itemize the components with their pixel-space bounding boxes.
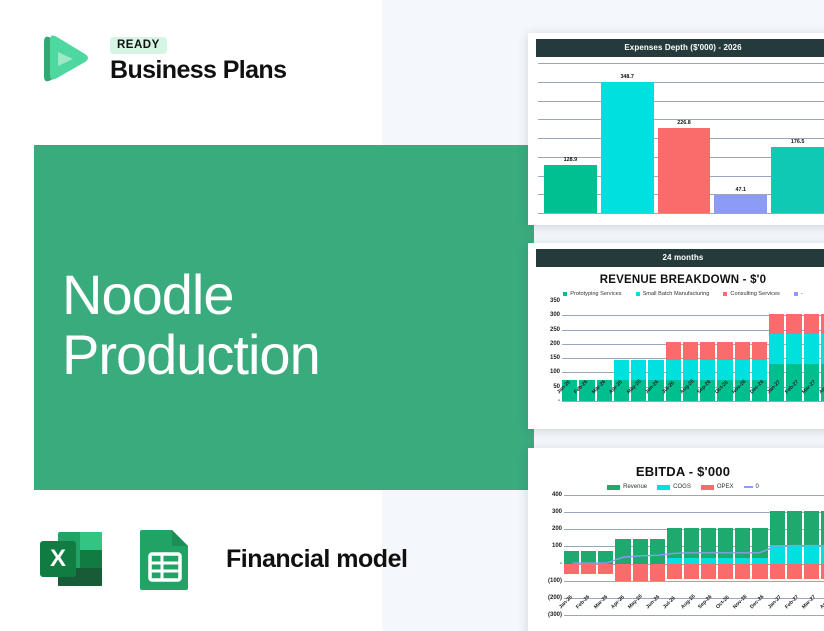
bar-segment-opex <box>787 564 802 579</box>
y-axis-tick: 250 <box>550 327 560 333</box>
bar[interactable]: 226.8 <box>658 128 711 213</box>
y-axis-tick: 400 <box>552 492 562 498</box>
bar-segment-revenue <box>770 511 785 544</box>
y-axis-tick: 100 <box>550 369 560 375</box>
positive-stack <box>735 528 750 563</box>
positive-stack <box>701 528 716 563</box>
bar-segment <box>769 334 784 364</box>
chart-card-revenue: 24 months REVENUE BREAKDOWN - $'0 Protot… <box>528 243 824 429</box>
y-axis-tick: - <box>558 398 560 404</box>
legend-label: Revenue <box>623 484 647 490</box>
bar-segment-revenue <box>667 528 682 557</box>
bar-segment <box>786 314 801 335</box>
legend-item[interactable]: 0 <box>744 484 759 490</box>
page-title: Noodle Production <box>62 265 482 386</box>
footer-row: X Financial model <box>32 520 407 598</box>
bar-segment-opex <box>598 564 613 574</box>
bar-segment-opex <box>752 564 767 579</box>
bar[interactable]: 348.7 <box>601 82 654 213</box>
bar-segment <box>631 360 646 380</box>
bar-segment-opex <box>718 564 733 579</box>
legend-swatch <box>701 485 714 490</box>
chart-card-expenses: Expenses Depth ($'000) - 2026 128.9348.7… <box>528 33 824 225</box>
svg-text:X: X <box>50 545 66 572</box>
bar-segment <box>700 360 715 380</box>
chart-legend-ebitda: RevenueCOGSOPEX0 <box>528 481 824 493</box>
chart-title-ebitda: EBITDA - $'000 <box>528 448 824 481</box>
bar-segment-opex <box>581 564 596 574</box>
bar-segment-opex <box>615 564 630 581</box>
bar[interactable]: 176.5 <box>771 147 824 213</box>
bar-segment <box>735 342 750 359</box>
positive-stack <box>752 528 767 563</box>
bar-segment <box>717 360 732 380</box>
bar-segment <box>666 342 681 359</box>
footer-label: Financial model <box>226 545 407 574</box>
legend-label: Small Batch Manufacturing <box>643 291 710 297</box>
bar-segment-revenue <box>701 528 716 557</box>
bar-group: 128.9348.7226.847.1176.5 <box>538 63 824 213</box>
y-axis-tick: 300 <box>552 509 562 515</box>
bar-segment-opex <box>770 564 785 579</box>
positive-stack <box>718 528 733 563</box>
chart-title-revenue: REVENUE BREAKDOWN - $'0 <box>528 267 824 288</box>
bar-segment-revenue <box>650 539 665 564</box>
legend-swatch <box>723 292 727 296</box>
bar[interactable]: 47.1 <box>714 195 767 213</box>
legend-label: OPEX <box>717 484 734 490</box>
bar-segment <box>683 342 698 359</box>
y-axis-labels: 35030025020015010050- <box>534 301 562 401</box>
bar-segment-opex <box>804 564 819 579</box>
bar-segment <box>804 334 819 364</box>
y-axis-tick: 300 <box>550 312 560 318</box>
bar-segment <box>804 314 819 335</box>
y-axis-labels: 400300200100-(100)(200)(300) <box>534 495 564 615</box>
plot-area-expenses: 128.9348.7226.847.1176.5 <box>538 63 824 213</box>
positive-stack <box>787 511 802 563</box>
bar-segment-cogs <box>770 545 785 564</box>
bar-segment-revenue <box>718 528 733 557</box>
chart-card-ebitda: EBITDA - $'000 RevenueCOGSOPEX0 40030020… <box>528 448 824 631</box>
positive-stack <box>770 511 785 563</box>
bar-segment <box>717 342 732 359</box>
legend-swatch <box>563 292 567 296</box>
positive-stack <box>598 551 613 564</box>
positive-stack <box>633 539 648 564</box>
bar-segment <box>700 342 715 359</box>
bar-segment-revenue <box>684 528 699 557</box>
y-axis-tick: 200 <box>550 341 560 347</box>
bar-segment <box>786 334 801 364</box>
x-axis-labels-ebitda: Jan-26Feb-26Mar-26Apr-26May-26Jun-26Jul-… <box>558 606 824 612</box>
legend-label: - <box>801 291 803 297</box>
bar-segment-revenue <box>752 528 767 557</box>
bar-segment-cogs <box>804 545 819 564</box>
bar-segment-opex <box>633 564 648 581</box>
positive-stack <box>667 528 682 563</box>
y-axis-tick: - <box>560 561 562 567</box>
bar-segment-revenue <box>615 539 630 564</box>
bar[interactable]: 128.9 <box>544 165 597 213</box>
bar-segment-opex <box>650 564 665 581</box>
bar-segment-revenue <box>787 511 802 544</box>
chart-legend-revenue: Prototyping ServicesSmall Batch Manufact… <box>528 288 824 299</box>
legend-label: Prototyping Services <box>570 291 621 297</box>
bar-segment-revenue <box>598 551 613 564</box>
chart-header-expenses: Expenses Depth ($'000) - 2026 <box>536 39 824 57</box>
legend-item[interactable]: Small Batch Manufacturing <box>636 291 710 297</box>
legend-item[interactable]: - <box>794 291 803 297</box>
legend-swatch <box>607 485 620 490</box>
bar-segment-opex <box>667 564 682 579</box>
play-triangle-logo-icon <box>34 28 96 90</box>
legend-item[interactable]: Prototyping Services <box>563 291 621 297</box>
bar-segment <box>666 360 681 380</box>
bar-segment <box>735 360 750 380</box>
y-axis-tick: (100) <box>548 578 562 584</box>
gridline <box>564 615 824 616</box>
bar-segment <box>752 360 767 380</box>
brand-title: Business Plans <box>110 57 286 83</box>
positive-stack <box>650 539 665 564</box>
brand-header: READY Business Plans <box>34 28 286 90</box>
legend-item[interactable]: COGS <box>657 484 691 490</box>
positive-stack <box>804 511 819 563</box>
bar-segment-opex <box>701 564 716 579</box>
legend-item[interactable]: OPEX <box>701 484 734 490</box>
positive-stack <box>581 551 596 564</box>
legend-item[interactable]: Consulting Services <box>723 291 779 297</box>
legend-label: Consulting Services <box>730 291 779 297</box>
chart-header-revenue: 24 months <box>536 249 824 267</box>
bar-segment <box>614 360 629 380</box>
x-axis-labels-revenue: Jan-26Feb-26Mar-26Apr-26May-26Jun-26Jul-… <box>556 391 824 397</box>
legend-label: COGS <box>673 484 691 490</box>
legend-swatch <box>657 485 670 490</box>
bar-segment-revenue <box>804 511 819 544</box>
bar-segment-revenue <box>564 551 579 564</box>
bar-value-label: 226.8 <box>658 120 711 126</box>
positive-stack <box>684 528 699 563</box>
google-sheets-icon <box>126 520 204 598</box>
bar-value-label: 348.7 <box>601 74 654 80</box>
bar-segment-cogs <box>787 545 802 564</box>
legend-label: 0 <box>756 484 759 490</box>
bar-value-label: 128.9 <box>544 157 597 163</box>
bar-segment <box>752 342 767 359</box>
bar-segment-revenue <box>581 551 596 564</box>
gridline <box>562 401 824 402</box>
legend-item[interactable]: Revenue <box>607 484 647 490</box>
ready-badge: READY <box>110 37 167 55</box>
bar-segment-opex <box>684 564 699 579</box>
legend-swatch <box>636 292 640 296</box>
y-axis-tick: 150 <box>550 355 560 361</box>
y-axis-tick: 100 <box>552 543 562 549</box>
bar-segment-revenue <box>735 528 750 557</box>
legend-swatch <box>794 292 798 296</box>
y-axis-tick: 200 <box>552 526 562 532</box>
bar-value-label: 176.5 <box>771 139 824 145</box>
bar-segment-revenue <box>633 539 648 564</box>
gridline <box>538 213 824 214</box>
y-axis-tick: 350 <box>550 298 560 304</box>
bar-segment-opex <box>735 564 750 579</box>
legend-swatch <box>744 486 753 488</box>
microsoft-excel-icon: X <box>32 520 110 598</box>
positive-stack <box>564 551 579 564</box>
positive-stack <box>615 539 630 564</box>
bar-segment-opex <box>564 564 579 574</box>
bar-value-label: 47.1 <box>714 187 767 193</box>
bar-segment <box>769 314 784 335</box>
y-axis-tick: (300) <box>548 612 562 618</box>
bar-segment <box>683 360 698 380</box>
y-axis-tick: (200) <box>548 595 562 601</box>
bar-segment <box>648 360 663 380</box>
